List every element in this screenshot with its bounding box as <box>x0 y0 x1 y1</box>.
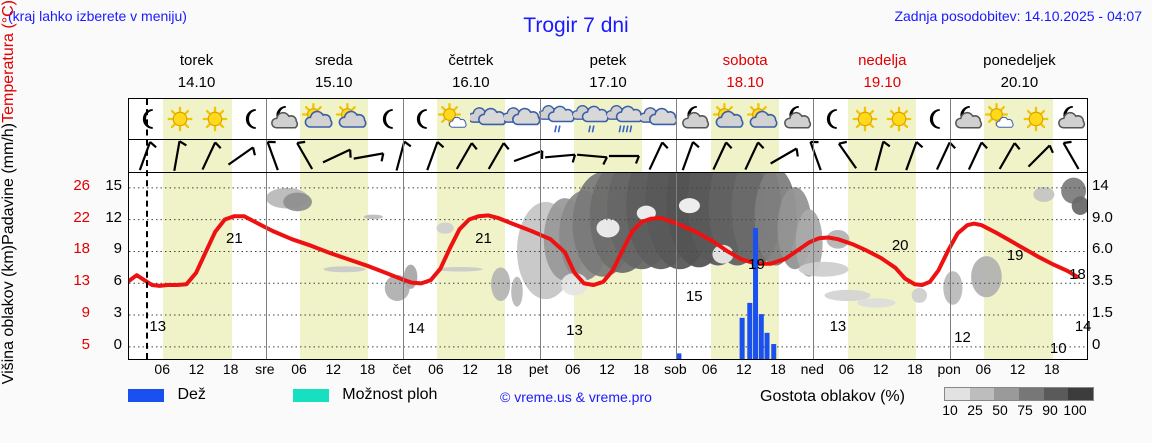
day-date: 16.10 <box>402 72 539 94</box>
temperature-value-label: 19 <box>1007 247 1024 264</box>
cloud-height-tick: 14 <box>1092 177 1109 194</box>
wind-barb <box>771 149 798 164</box>
wind-barb <box>489 143 509 169</box>
weather-icon-moon-cloud <box>265 101 301 137</box>
cloud-density-label: Gostota oblakov (%) <box>760 388 905 406</box>
x-tick: 18 <box>360 361 376 377</box>
cloud-density-swatch-0 <box>945 388 970 400</box>
temperature-value-label: 10 <box>1050 340 1067 357</box>
wind-barb <box>457 143 477 169</box>
forecast-plot: 1321142113151913201219101814 <box>128 98 1088 360</box>
day-name: sobota <box>677 50 814 72</box>
wind-barb <box>683 142 699 170</box>
temperature-value-label: 14 <box>408 320 425 337</box>
day-date: 15.10 <box>265 72 402 94</box>
weather-icon-sun-cloud-small <box>436 101 472 137</box>
temperature-value-label: 13 <box>149 318 166 335</box>
day-separator-3 <box>540 99 541 359</box>
weather-icon-cloud <box>641 101 677 137</box>
day-date: 14.10 <box>128 72 265 94</box>
x-tick: 18 <box>770 361 786 377</box>
weather-icon-sun <box>881 101 917 137</box>
day-separator-4 <box>676 99 677 359</box>
day-date: 17.10 <box>539 72 676 94</box>
wind-barb <box>174 141 186 171</box>
weather-icon-sun-cloud-small <box>983 101 1019 137</box>
day-header-5: nedelja19.10 <box>814 50 951 96</box>
precipitation-tick: 0 <box>104 336 122 353</box>
x-tick: 18 <box>497 361 513 377</box>
cloud-density-tick: 10 <box>942 402 958 418</box>
weather-icon-moon-cloud <box>1052 101 1088 137</box>
temperature-value-label: 13 <box>830 318 847 335</box>
wind-barb <box>1028 145 1052 166</box>
cloud-height-tick: 3.5 <box>1092 272 1113 289</box>
wind-barb-row <box>129 139 1087 172</box>
wind-barb <box>427 142 443 170</box>
day-date: 18.10 <box>677 72 814 94</box>
x-tick: 06 <box>839 361 855 377</box>
day-header-row: torek14.10sreda15.10četrtek16.10petek17.… <box>128 50 1088 96</box>
cloud-density-tick: 75 <box>1017 402 1033 418</box>
rain-legend-label: Dež <box>177 386 205 404</box>
weather-icon-moon-cloud <box>676 101 712 137</box>
cloud-density-swatch-4 <box>1044 388 1069 400</box>
wind-barb <box>650 142 668 169</box>
temperature-tick: 22 <box>62 209 90 226</box>
cloud-density-tick: 50 <box>992 402 1008 418</box>
day-header-1: sreda15.10 <box>265 50 402 96</box>
wind-barbs <box>129 139 1087 172</box>
temperature-value-label: 14 <box>1075 318 1092 335</box>
x-tick: 12 <box>599 361 615 377</box>
weather-icon-cloud-rain <box>539 101 575 137</box>
temperature-value-label: 21 <box>475 230 492 247</box>
weather-icon-moon <box>368 101 404 137</box>
x-tick: 06 <box>976 361 992 377</box>
cloud-density-swatch-3 <box>1019 388 1044 400</box>
weather-icon-sun-cloud <box>710 101 746 137</box>
temperature-tick: 9 <box>62 304 90 321</box>
band-separator-0 <box>129 139 1087 140</box>
precipitation-bar <box>771 344 776 359</box>
wind-barb <box>906 142 922 170</box>
temperature-value-label: 20 <box>892 237 909 254</box>
wind-barb <box>937 142 955 169</box>
wind-barb <box>323 150 351 163</box>
wind-barb <box>839 142 856 168</box>
wind-barb <box>268 142 278 170</box>
rain-legend-swatch <box>128 389 164 402</box>
temperature-value-label: 18 <box>1069 266 1086 283</box>
cloud-height-axis-title: Višina oblakov (km) <box>0 245 18 384</box>
x-tick: 12 <box>1010 361 1026 377</box>
showers-legend-label: Možnost ploh <box>342 386 437 404</box>
band-separator-1 <box>129 172 1087 173</box>
day-name: nedelja <box>814 50 951 72</box>
precipitation-bar <box>765 333 770 359</box>
x-tick: 12 <box>873 361 889 377</box>
cloud-density-swatch-5 <box>1068 388 1093 400</box>
x-tick: ned <box>801 361 824 377</box>
current-time-marker <box>146 99 148 359</box>
weather-icon-sun <box>162 101 198 137</box>
temperature-value-label: 13 <box>566 322 583 339</box>
x-tick: 18 <box>223 361 239 377</box>
x-tick: čet <box>392 361 411 377</box>
day-separator-5 <box>813 99 814 359</box>
showers-legend-swatch <box>293 389 329 402</box>
weather-icon-moon <box>812 101 848 137</box>
precipitation-bar <box>753 228 758 359</box>
day-header-4: sobota18.10 <box>677 50 814 96</box>
weather-icon-sun <box>1018 101 1054 137</box>
cloud-density-ticks: 1025507590100 <box>938 402 1108 420</box>
precipitation-tick: 12 <box>104 209 122 226</box>
x-tick: 18 <box>633 361 649 377</box>
x-tick: 06 <box>428 361 444 377</box>
wind-barb <box>228 147 254 164</box>
wind-barb <box>297 142 312 169</box>
wind-barb <box>810 142 820 170</box>
temperature-value-label: 21 <box>226 230 243 247</box>
cloud-density-swatch-2 <box>994 388 1019 400</box>
precipitation-bar <box>740 318 745 359</box>
precipitation-axis-title: Padavine (mm/h) <box>0 123 18 245</box>
day-header-2: četrtek16.10 <box>402 50 539 96</box>
day-header-6: ponedeljek20.10 <box>951 50 1088 96</box>
weather-icon-moon-cloud <box>778 101 814 137</box>
precipitation-tick: 3 <box>104 304 122 321</box>
x-tick: 12 <box>462 361 478 377</box>
weather-icon-sun-cloud <box>333 101 369 137</box>
day-date: 19.10 <box>814 72 951 94</box>
temperature-value-label: 15 <box>686 288 703 305</box>
wind-barb <box>713 142 731 169</box>
weather-icon-sun <box>847 101 883 137</box>
weather-icon-sun-cloud <box>744 101 780 137</box>
legend: Dež Možnost ploh <box>128 386 437 412</box>
weather-icon-cloud <box>470 101 506 137</box>
wind-barb <box>969 142 987 169</box>
wind-barb <box>876 142 890 171</box>
wind-barb <box>514 151 542 161</box>
weather-icon-cloud <box>504 101 540 137</box>
precipitation-tick: 15 <box>104 177 122 194</box>
day-header-3: petek17.10 <box>539 50 676 96</box>
wind-barb <box>745 142 763 169</box>
day-separator-2 <box>403 99 404 359</box>
day-date: 20.10 <box>951 72 1088 94</box>
day-name: petek <box>539 50 676 72</box>
x-tick: pet <box>529 361 548 377</box>
wind-barb <box>140 142 156 170</box>
temperature-tick: 13 <box>62 272 90 289</box>
day-name: ponedeljek <box>951 50 1088 72</box>
wind-barb <box>545 155 575 163</box>
x-axis-tick-labels: 061218sre061218čet061218pet061218sob0612… <box>128 361 1088 381</box>
weather-icon-cloud-rain-heavy <box>607 101 643 137</box>
cloud-height-tick: 6.0 <box>1092 240 1113 257</box>
day-header-0: torek14.10 <box>128 50 265 96</box>
weather-icon-cloud-rain <box>573 101 609 137</box>
wind-barb <box>202 142 220 169</box>
cloud-height-tick: 9.0 <box>1092 209 1113 226</box>
weather-icon-moon <box>231 101 267 137</box>
x-tick: 06 <box>565 361 581 377</box>
cloud-density-scale <box>944 387 1094 401</box>
temperature-cloud-graph: 1321142113151913201219101814 <box>129 172 1087 359</box>
wind-barb <box>354 153 384 161</box>
day-name: sreda <box>265 50 402 72</box>
x-tick: 12 <box>189 361 205 377</box>
wind-barb <box>609 156 639 164</box>
temperature-tick: 18 <box>62 240 90 257</box>
credit-link[interactable]: © vreme.us & vreme.pro <box>500 389 652 405</box>
weather-icon-sun-cloud <box>299 101 335 137</box>
wind-barb <box>577 155 607 165</box>
cloud-density-tick: 90 <box>1042 402 1058 418</box>
last-updated: Zadnja posodobitev: 14.10.2025 - 04:07 <box>894 8 1142 24</box>
temperature-tick: 5 <box>62 336 90 353</box>
x-tick: 06 <box>291 361 307 377</box>
cloud-density-tick: 25 <box>967 402 983 418</box>
wind-barb <box>1000 143 1020 169</box>
weather-icon-row <box>129 99 1087 139</box>
weather-icon-moon <box>402 101 438 137</box>
precipitation-tick: 6 <box>104 272 122 289</box>
day-name: četrtek <box>402 50 539 72</box>
x-tick: 06 <box>154 361 170 377</box>
x-tick: 06 <box>702 361 718 377</box>
x-tick: 18 <box>1044 361 1060 377</box>
x-tick: pon <box>937 361 960 377</box>
wind-barb <box>1064 142 1079 169</box>
weather-icon-moon-cloud <box>949 101 985 137</box>
day-separator-1 <box>266 99 267 359</box>
precipitation-bar <box>747 303 752 359</box>
weather-icon-moon <box>915 101 951 137</box>
x-tick: sob <box>664 361 687 377</box>
weather-icon-sun <box>197 101 233 137</box>
graph-canvas <box>129 172 1087 359</box>
precipitation-tick: 9 <box>104 240 122 257</box>
cloud-density-tick: 100 <box>1063 402 1086 418</box>
cloud-density-swatch-1 <box>970 388 995 400</box>
temperature-tick: 26 <box>62 177 90 194</box>
precipitation-bar <box>759 314 764 359</box>
day-name: torek <box>128 50 265 72</box>
day-separator-6 <box>950 99 951 359</box>
x-tick: 12 <box>736 361 752 377</box>
temperature-axis-title: Temperatura (°C) <box>0 0 18 123</box>
x-tick: sre <box>255 361 274 377</box>
x-tick: 12 <box>325 361 341 377</box>
cloud-height-tick: 0 <box>1092 336 1100 353</box>
x-tick: 18 <box>907 361 923 377</box>
temperature-value-label: 12 <box>954 329 971 346</box>
temperature-value-label: 19 <box>748 256 765 273</box>
cloud-height-tick: 1.5 <box>1092 304 1113 321</box>
